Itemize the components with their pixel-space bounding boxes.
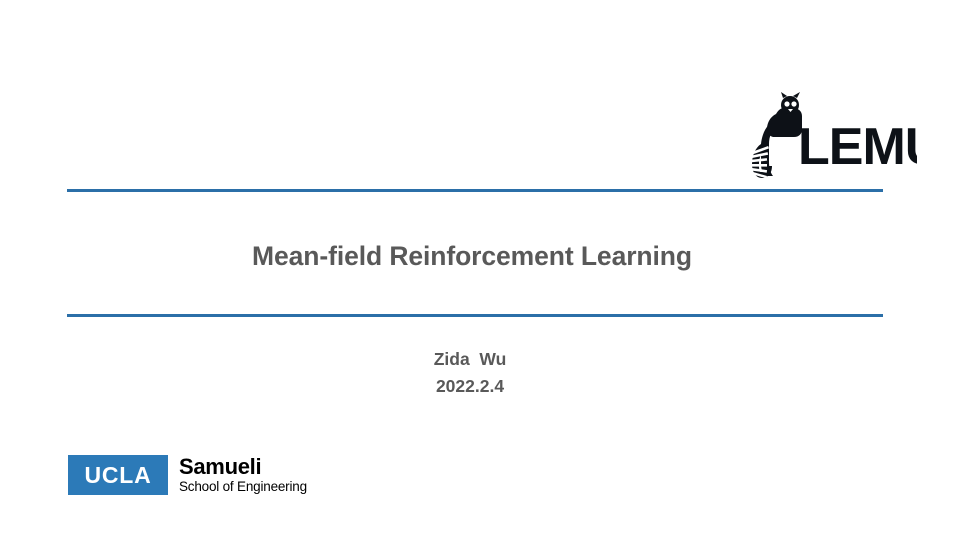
slide-title: Mean-field Reinforcement Learning — [0, 236, 944, 276]
ucla-samueli-logo: UCLA Samueli School of Engineering — [68, 455, 307, 495]
samueli-wordmark: Samueli School of Engineering — [179, 455, 307, 495]
divider-rule-top — [67, 189, 883, 192]
author-date-block: Zida Wu 2022.2.4 — [0, 346, 940, 400]
presentation-date: 2022.2.4 — [0, 373, 940, 400]
divider-rule-bottom — [67, 314, 883, 317]
ucla-badge: UCLA — [68, 455, 168, 495]
lemur-logo: LEMUR — [742, 92, 917, 180]
title-slide: LEMUR Mean-field Reinforcement Learning … — [0, 0, 960, 540]
author-name: Zida Wu — [0, 346, 940, 373]
title-block: Mean-field Reinforcement Learning — [0, 236, 944, 276]
lemur-wordmark: LEMUR — [798, 118, 917, 176]
lemur-mascot-icon — [750, 92, 802, 178]
samueli-school-name: Samueli — [179, 455, 307, 478]
samueli-school-subtitle: School of Engineering — [179, 479, 307, 495]
ucla-badge-text: UCLA — [84, 462, 151, 489]
